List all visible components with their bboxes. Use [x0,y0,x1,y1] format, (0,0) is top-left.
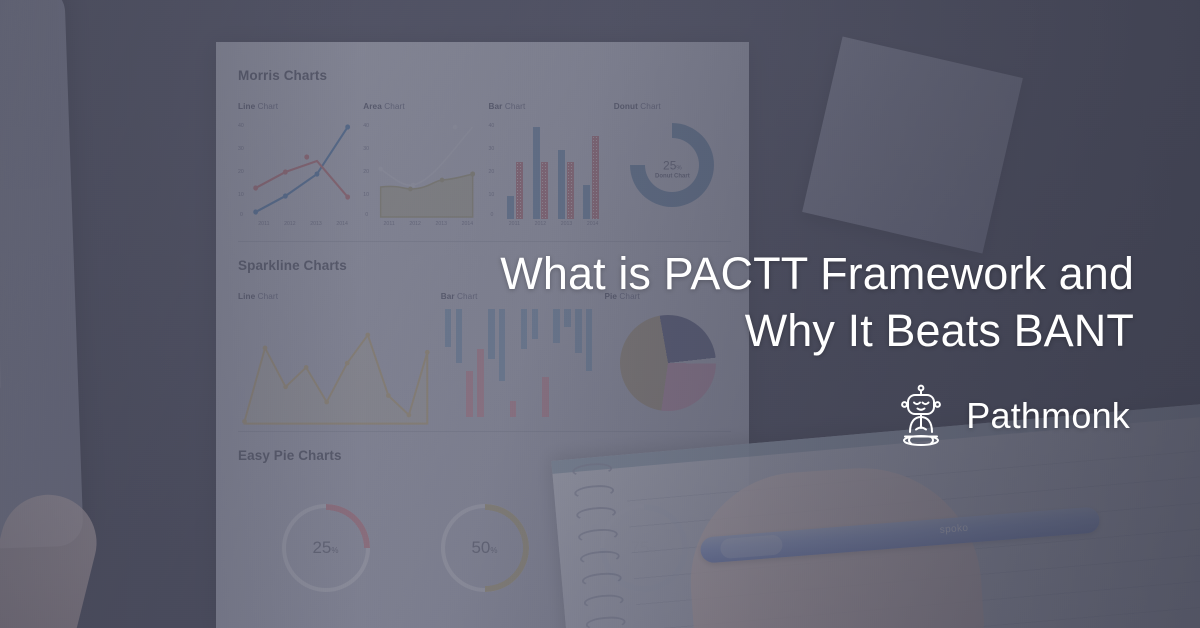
page-title: What is PACTT Framework and Why It Beats… [494,246,1134,359]
overlay-content: What is PACTT Framework and Why It Beats… [494,246,1134,448]
banner-stage: Morris Charts Line Chart 40 30 20 10 0 [0,0,1200,628]
headline-line-1: What is PACTT Framework and [494,246,1134,303]
headline-line-2: Why It Beats BANT [494,303,1134,360]
brand-name: Pathmonk [966,395,1130,437]
brand-lockup: Pathmonk [494,384,1130,448]
robot-monk-meditating-icon [893,384,949,448]
